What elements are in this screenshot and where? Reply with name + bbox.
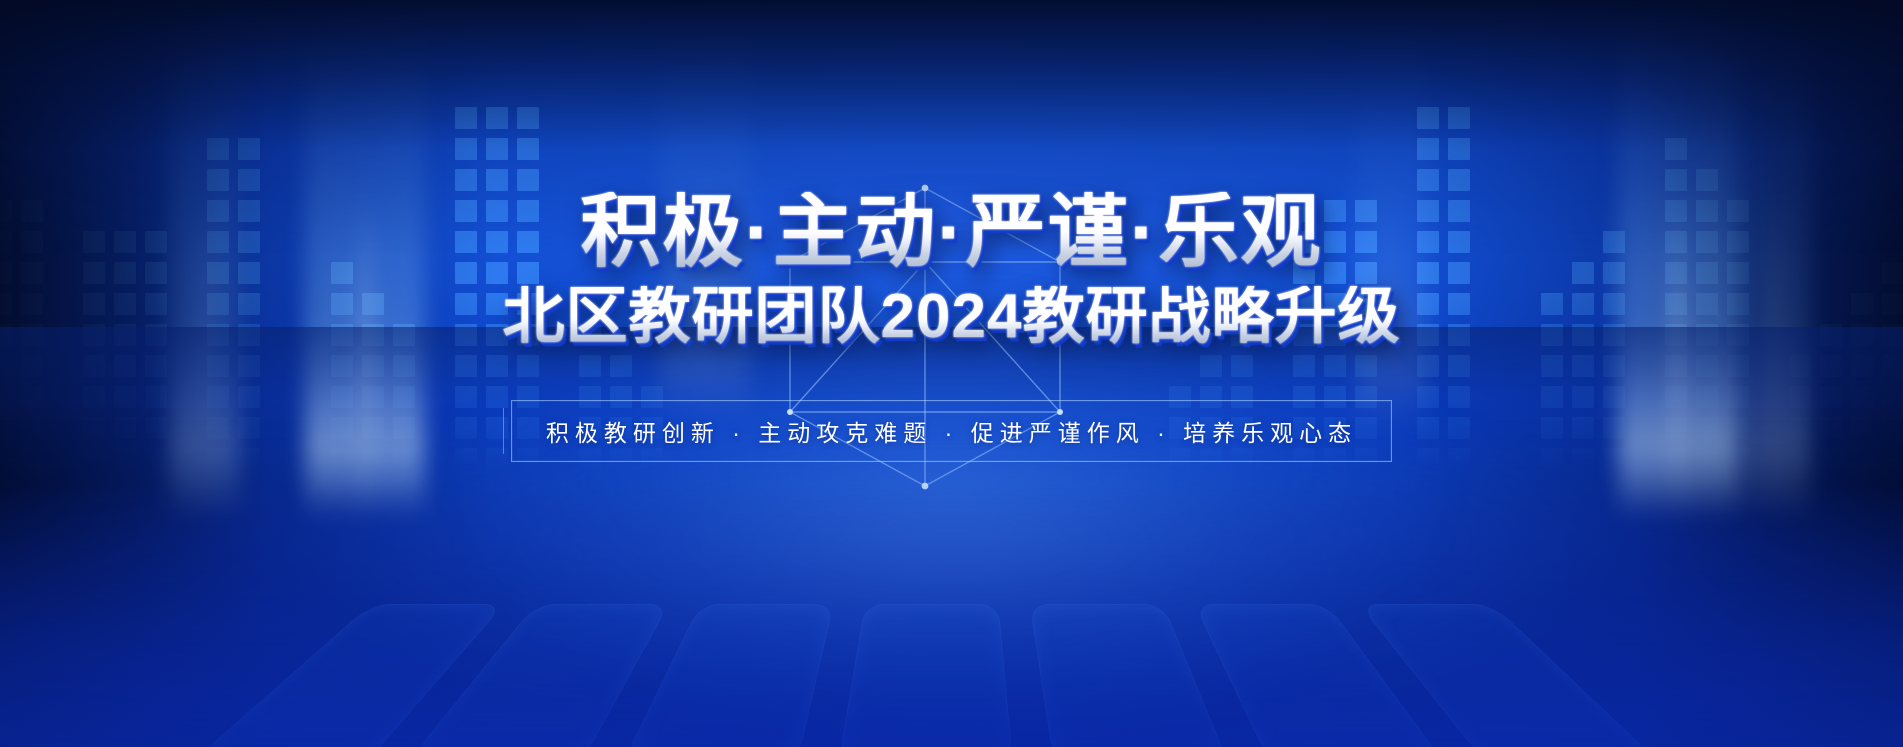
banner-canvas: 积极·主动·严谨·乐观 北区教研团队2024教研战略升级 积极教研创新 · 主动… [0,0,1903,747]
banner-content: 积极·主动·严谨·乐观 北区教研团队2024教研战略升级 积极教研创新 · 主动… [0,0,1903,747]
banner-subheadline: 北区教研团队2024教研战略升级 [503,286,1401,348]
tagline-box: 积极教研创新 · 主动攻克难题 · 促进严谨作风 · 培养乐观心态 [511,400,1392,462]
banner-headline: 积极·主动·严谨·乐观 [581,192,1323,272]
tagline-text: 积极教研创新 · 主动攻克难题 · 促进严谨作风 · 培养乐观心态 [546,414,1357,448]
